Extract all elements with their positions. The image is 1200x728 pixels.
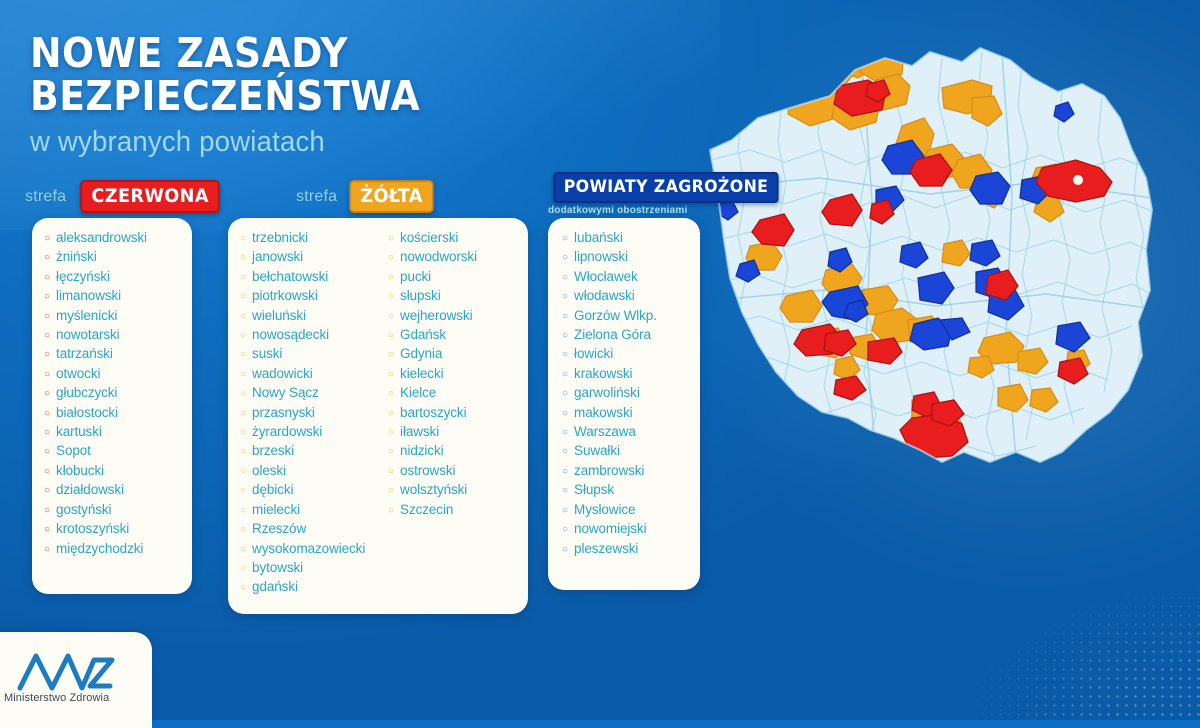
list-item: ○Gdańsk <box>388 325 523 344</box>
county-name: lipnowski <box>574 247 628 266</box>
bullet-icon: ○ <box>562 447 568 457</box>
list-item: ○wejherowski <box>388 306 523 325</box>
county-name: dębicki <box>252 480 293 499</box>
bullet-icon: ○ <box>240 273 246 283</box>
bullet-icon: ○ <box>388 428 394 438</box>
county-name: gdański <box>252 577 298 596</box>
list-item: ○działdowski <box>44 480 192 499</box>
list-item: ○ostrowski <box>388 461 523 480</box>
county-name: pleszewski <box>574 539 638 558</box>
bullet-icon: ○ <box>44 350 50 360</box>
list-item: ○pucki <box>388 267 523 286</box>
list-item: ○Zielona Góra <box>562 325 700 344</box>
list-item: ○gostyński <box>44 500 192 519</box>
county-name: nowosądecki <box>252 325 329 344</box>
bullet-icon: ○ <box>562 292 568 302</box>
county-name: janowski <box>252 247 303 266</box>
county-name: gostyński <box>56 500 111 519</box>
county-name: Suwałki <box>574 441 620 460</box>
bullet-icon: ○ <box>388 467 394 477</box>
county-name: wadowicki <box>252 364 313 383</box>
list-item: ○myślenicki <box>44 306 192 325</box>
list-item: ○kielecki <box>388 364 523 383</box>
county-name: słupski <box>400 286 441 305</box>
county-name: głubczycki <box>56 383 117 402</box>
county-name: myślenicki <box>56 306 117 325</box>
bullet-icon: ○ <box>562 312 568 322</box>
bullet-icon: ○ <box>44 447 50 457</box>
bullet-icon: ○ <box>240 350 246 360</box>
badge-czerwona: CZERWONA <box>80 180 220 213</box>
bullet-icon: ○ <box>44 506 50 516</box>
county-name: nidzicki <box>400 441 443 460</box>
county-name: kielecki <box>400 364 443 383</box>
list-item: ○wolsztyński <box>388 480 523 499</box>
bullet-icon: ○ <box>562 506 568 516</box>
county-name: wieluński <box>252 306 306 325</box>
list-item: ○kłobucki <box>44 461 192 480</box>
bullet-icon: ○ <box>44 273 50 283</box>
list-item: ○garwoliński <box>562 383 700 402</box>
county-name: wejherowski <box>400 306 472 325</box>
county-name: nowotarski <box>56 325 120 344</box>
list-item: ○dębicki <box>240 480 383 499</box>
bullet-icon: ○ <box>562 273 568 283</box>
list-item: ○międzychodzki <box>44 539 192 558</box>
bullet-icon: ○ <box>388 486 394 496</box>
list-item: ○Sopot <box>44 441 192 460</box>
ministry-logo-card: Ministerstwo Zdrowia <box>0 632 152 728</box>
county-name: aleksandrowski <box>56 228 147 247</box>
strefa-label-yellow: strefa <box>296 188 337 206</box>
threatened-counties-card: ○lubański○lipnowski○Włocławek○włodawski○… <box>548 218 700 590</box>
county-name: Gorzów Wlkp. <box>574 306 657 325</box>
county-name: żniński <box>56 247 97 266</box>
list-item: ○piotrkowski <box>240 286 383 305</box>
county-name: trzebnicki <box>252 228 308 247</box>
bullet-icon: ○ <box>240 389 246 399</box>
bullet-icon: ○ <box>44 486 50 496</box>
county-name: wysokomazowiecki <box>252 539 365 558</box>
strefa-label-red: strefa <box>25 188 66 206</box>
bullet-icon: ○ <box>562 350 568 360</box>
list-item: ○Rzeszów <box>240 519 383 538</box>
list-item: ○nidzicki <box>388 441 523 460</box>
bullet-icon: ○ <box>44 428 50 438</box>
county-name: makowski <box>574 403 632 422</box>
bullet-icon: ○ <box>562 409 568 419</box>
county-name: garwoliński <box>574 383 640 402</box>
county-name: Szczecin <box>400 500 453 519</box>
bullet-icon: ○ <box>44 389 50 399</box>
county-name: brzeski <box>252 441 294 460</box>
county-name: mielecki <box>252 500 300 519</box>
list-item: ○nowomiejski <box>562 519 700 538</box>
list-item: ○białostocki <box>44 403 192 422</box>
county-name: bytowski <box>252 558 303 577</box>
bullet-icon: ○ <box>388 506 394 516</box>
bullet-icon: ○ <box>388 253 394 263</box>
county-name: krakowski <box>574 364 632 383</box>
county-name: białostocki <box>56 403 118 422</box>
bullet-icon: ○ <box>240 525 246 535</box>
list-item: ○łęczyński <box>44 267 192 286</box>
county-name: Gdańsk <box>400 325 446 344</box>
county-name: Warszawa <box>574 422 636 441</box>
yellow-zone-card: ○trzebnicki○janowski○bełchatowski○piotrk… <box>228 218 528 614</box>
list-item: ○gdański <box>240 577 383 596</box>
list-item: ○lipnowski <box>562 247 700 266</box>
county-name: Rzeszów <box>252 519 306 538</box>
list-item: ○przasnyski <box>240 403 383 422</box>
bullet-icon: ○ <box>44 331 50 341</box>
mz-logo-mark <box>16 648 120 697</box>
bullet-icon: ○ <box>388 331 394 341</box>
list-item: ○Gorzów Wlkp. <box>562 306 700 325</box>
list-item: ○Kielce <box>388 383 523 402</box>
bullet-icon: ○ <box>44 545 50 555</box>
county-name: Słupsk <box>574 480 614 499</box>
header: NOWE ZASADY BEZPIECZEŃSTWA w wybranych p… <box>30 32 690 159</box>
county-name: włodawski <box>574 286 635 305</box>
county-name: pucki <box>400 267 431 286</box>
bullet-icon: ○ <box>240 370 246 380</box>
county-name: bartoszycki <box>400 403 466 422</box>
section-header-blue: POWIATY ZAGROŻONE dodatkowymi obostrzeni… <box>545 172 787 216</box>
county-name: tatrzański <box>56 344 113 363</box>
list-item: ○wadowicki <box>240 364 383 383</box>
badge-zolta: ŻÓŁTA <box>349 180 434 213</box>
list-item: ○oleski <box>240 461 383 480</box>
county-name: Mysłowice <box>574 500 635 519</box>
bullet-icon: ○ <box>388 292 394 302</box>
list-item: ○nowotarski <box>44 325 192 344</box>
list-item: ○Słupsk <box>562 480 700 499</box>
mz-zigzag-icon <box>16 648 120 692</box>
list-item: ○trzebnicki <box>240 228 383 247</box>
county-name: zambrowski <box>574 461 644 480</box>
list-item: ○zambrowski <box>562 461 700 480</box>
list-item: ○Włocławek <box>562 267 700 286</box>
county-name: łowicki <box>574 344 613 363</box>
list-item: ○pleszewski <box>562 539 700 558</box>
county-name: nowomiejski <box>574 519 646 538</box>
list-item: ○łowicki <box>562 344 700 363</box>
badge-subnote: dodatkowymi obostrzeniami <box>548 205 687 216</box>
poland-map <box>680 0 1200 720</box>
bullet-icon: ○ <box>240 331 246 341</box>
bullet-icon: ○ <box>388 273 394 283</box>
bullet-icon: ○ <box>388 389 394 399</box>
list-item: ○Gdynia <box>388 344 523 363</box>
county-name: kartuski <box>56 422 102 441</box>
list-item: ○wieluński <box>240 306 383 325</box>
red-zone-card: ○aleksandrowski○żniński○łęczyński○limano… <box>32 218 192 594</box>
county-name: Włocławek <box>574 267 638 286</box>
county-name: Zielona Góra <box>574 325 651 344</box>
bullet-icon: ○ <box>562 234 568 244</box>
bullet-icon: ○ <box>562 545 568 555</box>
county-name: Kielce <box>400 383 436 402</box>
list-item: ○mielecki <box>240 500 383 519</box>
bullet-icon: ○ <box>240 312 246 322</box>
county-name: piotrkowski <box>252 286 318 305</box>
bullet-icon: ○ <box>240 545 246 555</box>
list-item: ○iławski <box>388 422 523 441</box>
bullet-icon: ○ <box>240 583 246 593</box>
county-name: bełchatowski <box>252 267 328 286</box>
list-item: ○żyrardowski <box>240 422 383 441</box>
list-item: ○janowski <box>240 247 383 266</box>
county-name: ostrowski <box>400 461 455 480</box>
bullet-icon: ○ <box>44 409 50 419</box>
poland-map-svg <box>680 0 1200 720</box>
county-name: iławski <box>400 422 439 441</box>
list-item: ○kartuski <box>44 422 192 441</box>
bullet-icon: ○ <box>562 467 568 477</box>
list-item: ○Mysłowice <box>562 500 700 519</box>
bullet-icon: ○ <box>44 467 50 477</box>
list-item: ○głubczycki <box>44 383 192 402</box>
bullet-icon: ○ <box>388 447 394 457</box>
page-subtitle: w wybranych powiatach <box>30 126 657 159</box>
list-item: ○wysokomazowiecki <box>240 539 383 558</box>
list-item: ○włodawski <box>562 286 700 305</box>
list-item: ○nowosądecki <box>240 325 383 344</box>
bullet-icon: ○ <box>240 292 246 302</box>
county-name: kościerski <box>400 228 458 247</box>
list-item: ○żniński <box>44 247 192 266</box>
bullet-icon: ○ <box>388 312 394 322</box>
bullet-icon: ○ <box>562 428 568 438</box>
page-title: NOWE ZASADY BEZPIECZEŃSTWA <box>30 32 637 118</box>
bullet-icon: ○ <box>44 525 50 535</box>
bullet-icon: ○ <box>562 331 568 341</box>
bullet-icon: ○ <box>240 486 246 496</box>
county-name: żyrardowski <box>252 422 322 441</box>
list-item: ○lubański <box>562 228 700 247</box>
bullet-icon: ○ <box>240 253 246 263</box>
county-name: przasnyski <box>252 403 315 422</box>
list-item: ○słupski <box>388 286 523 305</box>
list-item: ○brzeski <box>240 441 383 460</box>
bullet-icon: ○ <box>240 428 246 438</box>
bullet-icon: ○ <box>44 370 50 380</box>
county-name: kłobucki <box>56 461 104 480</box>
list-item: ○nowodworski <box>388 247 523 266</box>
list-item: ○makowski <box>562 403 700 422</box>
list-item: ○bełchatowski <box>240 267 383 286</box>
county-name: Nowy Sącz <box>252 383 319 402</box>
bullet-icon: ○ <box>388 370 394 380</box>
list-item: ○aleksandrowski <box>44 228 192 247</box>
bullet-icon: ○ <box>240 467 246 477</box>
list-item: ○bartoszycki <box>388 403 523 422</box>
county-name: międzychodzki <box>56 539 143 558</box>
county-name: oleski <box>252 461 286 480</box>
bullet-icon: ○ <box>44 253 50 263</box>
yellow-zone-list-column-1: ○trzebnicki○janowski○bełchatowski○piotrk… <box>228 218 383 597</box>
county-name: nowodworski <box>400 247 477 266</box>
county-name: otwocki <box>56 364 100 383</box>
section-header-yellow: strefa ŻÓŁTA <box>296 180 437 213</box>
list-item: ○Warszawa <box>562 422 700 441</box>
bullet-icon: ○ <box>240 506 246 516</box>
red-zone-list: ○aleksandrowski○żniński○łęczyński○limano… <box>32 218 192 558</box>
county-name: krotoszyński <box>56 519 129 538</box>
bullet-icon: ○ <box>240 234 246 244</box>
bullet-icon: ○ <box>562 370 568 380</box>
bullet-icon: ○ <box>388 234 394 244</box>
county-name: suski <box>252 344 282 363</box>
bullet-icon: ○ <box>240 447 246 457</box>
list-item: ○krakowski <box>562 364 700 383</box>
bullet-icon: ○ <box>44 234 50 244</box>
list-item: ○Szczecin <box>388 500 523 519</box>
section-header-red: strefa CZERWONA <box>25 180 225 213</box>
list-item: ○otwocki <box>44 364 192 383</box>
badge-powiaty-zagrozone: POWIATY ZAGROŻONE <box>553 172 778 203</box>
list-item: ○suski <box>240 344 383 363</box>
county-name: Sopot <box>56 441 91 460</box>
list-item: ○Nowy Sącz <box>240 383 383 402</box>
bullet-icon: ○ <box>240 409 246 419</box>
list-item: ○kościerski <box>388 228 523 247</box>
bullet-icon: ○ <box>562 525 568 535</box>
bullet-icon: ○ <box>44 292 50 302</box>
bullet-icon: ○ <box>562 389 568 399</box>
list-item: ○tatrzański <box>44 344 192 363</box>
county-name: Gdynia <box>400 344 442 363</box>
county-name: działdowski <box>56 480 124 499</box>
yellow-zone-list-column-2: ○kościerski○nowodworski○pucki○słupski○we… <box>383 218 523 597</box>
list-item: ○krotoszyński <box>44 519 192 538</box>
bullet-icon: ○ <box>562 486 568 496</box>
county-name: limanowski <box>56 286 121 305</box>
bullet-icon: ○ <box>388 409 394 419</box>
threatened-counties-list: ○lubański○lipnowski○Włocławek○włodawski○… <box>548 218 700 558</box>
list-item: ○Suwałki <box>562 441 700 460</box>
list-item: ○limanowski <box>44 286 192 305</box>
bullet-icon: ○ <box>240 564 246 574</box>
county-name: wolsztyński <box>400 480 467 499</box>
ministry-logo-caption: Ministerstwo Zdrowia <box>4 692 109 704</box>
bullet-icon: ○ <box>44 312 50 322</box>
bullet-icon: ○ <box>388 350 394 360</box>
bullet-icon: ○ <box>562 253 568 263</box>
county-name: lubański <box>574 228 623 247</box>
list-item: ○bytowski <box>240 558 383 577</box>
county-name: łęczyński <box>56 267 110 286</box>
